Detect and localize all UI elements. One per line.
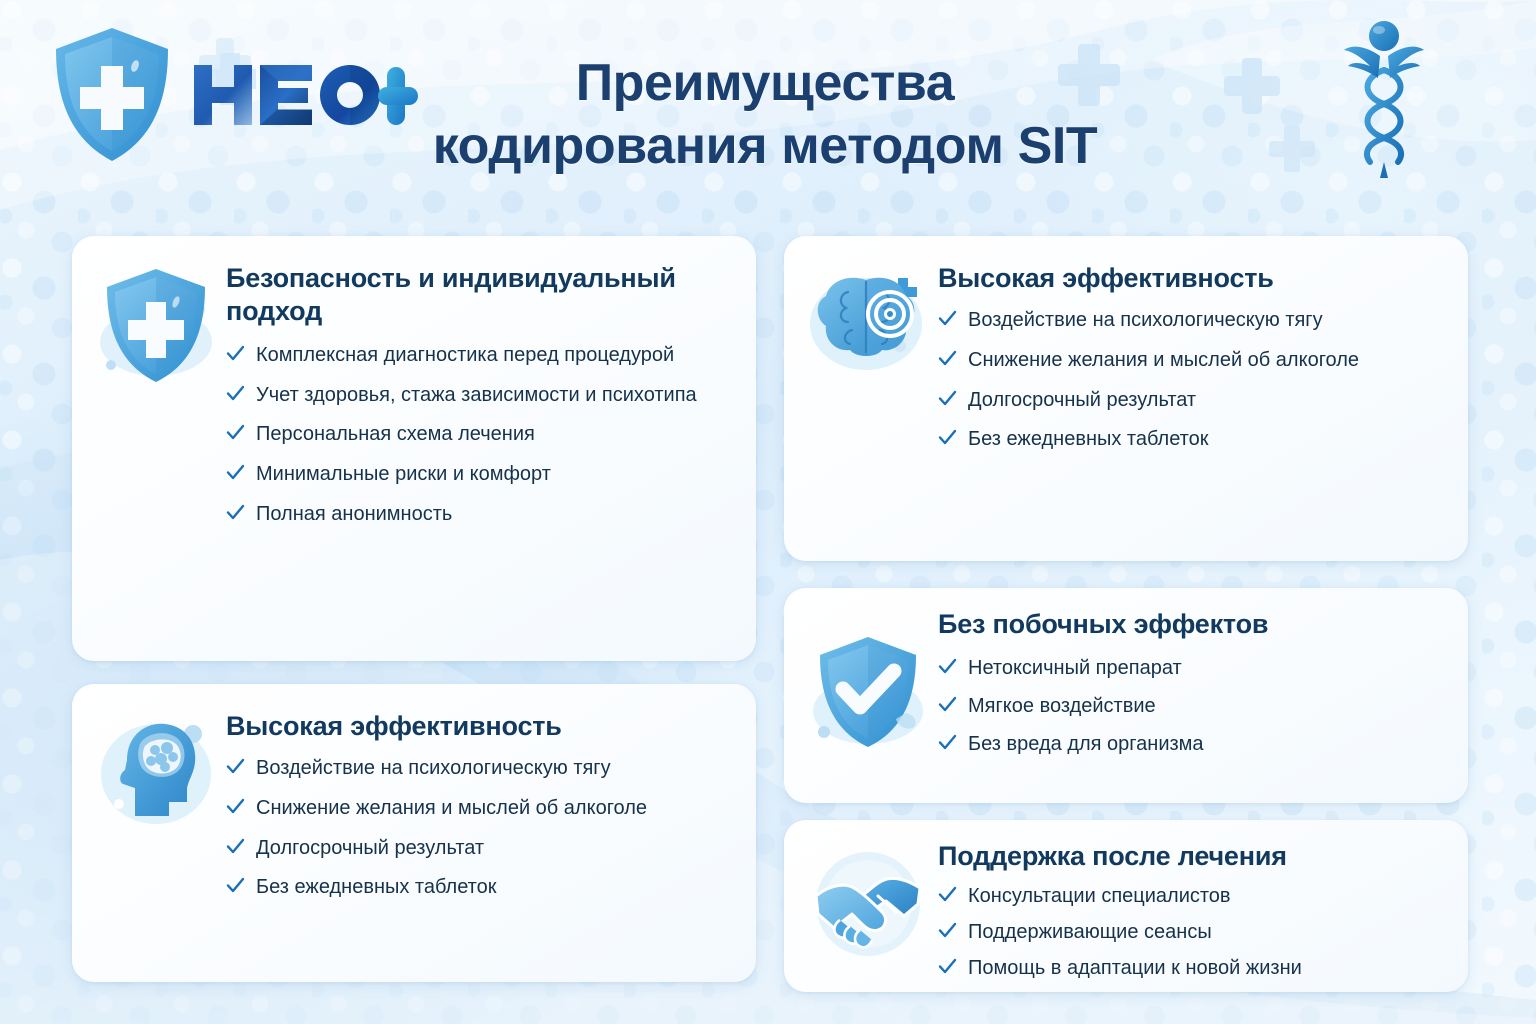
- check-icon: [938, 921, 957, 943]
- check-icon: [226, 463, 245, 485]
- head-brain-icon: [97, 712, 215, 830]
- list-item: Снижение желания и мыслей об алкоголе: [226, 795, 730, 822]
- list-item-label: Без ежедневных таблеток: [968, 426, 1442, 453]
- list-item-label: Полная анонимность: [256, 501, 730, 528]
- check-icon: [938, 885, 957, 907]
- bullet-list: Комплексная диагностика перед процедурой…: [226, 342, 730, 528]
- benefit-card-safety: Безопасность и индивидуальный подход Ком…: [72, 236, 756, 661]
- check-icon: [938, 309, 957, 331]
- list-item: Мягкое воздействие: [938, 693, 1442, 720]
- benefit-card-support: Поддержка после лечения Консультации спе…: [784, 820, 1468, 992]
- list-item: Воздействие на психологическую тягу: [938, 307, 1442, 334]
- check-icon: [226, 344, 245, 366]
- list-item-label: Мягкое воздействие: [968, 693, 1442, 720]
- list-item-label: Воздействие на психологическую тягу: [968, 307, 1442, 334]
- benefit-card-no-side-effects: Без побочных эффектов Нетоксичный препар…: [784, 588, 1468, 803]
- list-item-label: Поддерживающие сеансы: [968, 919, 1442, 946]
- card-icon-wrap: [92, 706, 220, 962]
- shield-check-icon: [810, 631, 926, 757]
- check-icon: [938, 957, 957, 979]
- list-item-label: Нетоксичный препарат: [968, 655, 1442, 682]
- check-icon: [938, 733, 957, 755]
- list-item-label: Минимальные риски и комфорт: [256, 461, 730, 488]
- card-title: Без побочных эффектов: [938, 608, 1442, 641]
- list-item-label: Комплексная диагностика перед процедурой: [256, 342, 730, 369]
- brain-target-icon: [806, 264, 930, 382]
- list-item-label: Учет здоровья, стажа зависимости и психо…: [256, 382, 730, 409]
- card-icon-wrap: [804, 836, 932, 972]
- card-icon-wrap: [804, 604, 932, 783]
- list-item-label: Долгосрочный результат: [968, 387, 1442, 414]
- list-item: Без ежедневных таблеток: [226, 874, 730, 901]
- benefit-card-efficiency-right: Высокая эффективность Воздействие на пси…: [784, 236, 1468, 561]
- benefits-card-grid: Безопасность и индивидуальный подход Ком…: [0, 0, 1536, 1024]
- check-icon: [226, 423, 245, 445]
- list-item-label: Долгосрочный результат: [256, 835, 730, 862]
- check-icon: [226, 757, 245, 779]
- infographic-poster: Преимущества кодирования методом SIT: [0, 0, 1536, 1024]
- list-item-label: Без вреда для организма: [968, 731, 1442, 758]
- list-item-label: Воздействие на психологическую тягу: [256, 755, 730, 782]
- list-item-label: Консультации специалистов: [968, 883, 1442, 910]
- list-item-label: Снижение желания и мыслей об алкоголе: [256, 795, 730, 822]
- card-title: Высокая эффективность: [226, 710, 730, 743]
- check-icon: [226, 876, 245, 898]
- list-item: Поддерживающие сеансы: [938, 919, 1442, 946]
- list-item: Снижение желания и мыслей об алкоголе: [938, 347, 1442, 374]
- card-title: Поддержка после лечения: [938, 840, 1442, 873]
- check-icon: [938, 695, 957, 717]
- list-item: Учет здоровья, стажа зависимости и психо…: [226, 382, 730, 409]
- list-item: Долгосрочный результат: [938, 387, 1442, 414]
- list-item: Долгосрочный результат: [226, 835, 730, 862]
- bullet-list: Воздействие на психологическую тягу Сниж…: [938, 307, 1442, 453]
- list-item: Комплексная диагностика перед процедурой: [226, 342, 730, 369]
- list-item: Помощь в адаптации к новой жизни: [938, 955, 1442, 982]
- check-icon: [226, 797, 245, 819]
- list-item: Воздействие на психологическую тягу: [226, 755, 730, 782]
- card-title: Безопасность и индивидуальный подход: [226, 262, 730, 328]
- check-icon: [226, 837, 245, 859]
- check-icon: [938, 349, 957, 371]
- card-title: Высокая эффективность: [938, 262, 1442, 295]
- check-icon: [938, 428, 957, 450]
- check-icon: [226, 503, 245, 525]
- list-item: Персональная схема лечения: [226, 421, 730, 448]
- check-icon: [938, 389, 957, 411]
- bullet-list: Нетоксичный препарат Мягкое воздействие …: [938, 655, 1442, 757]
- handshake-icon: [808, 844, 928, 964]
- list-item-label: Персональная схема лечения: [256, 421, 730, 448]
- list-item: Консультации специалистов: [938, 883, 1442, 910]
- list-item: Полная анонимность: [226, 501, 730, 528]
- list-item: Минимальные риски и комфорт: [226, 461, 730, 488]
- list-item-label: Снижение желания и мыслей об алкоголе: [968, 347, 1442, 374]
- check-icon: [938, 657, 957, 679]
- list-item: Без ежедневных таблеток: [938, 426, 1442, 453]
- bullet-list: Консультации специалистов Поддерживающие…: [938, 883, 1442, 981]
- list-item-label: Помощь в адаптации к новой жизни: [968, 955, 1442, 982]
- list-item: Нетоксичный препарат: [938, 655, 1442, 682]
- card-icon-wrap: [92, 258, 220, 641]
- benefit-card-efficiency-left: Высокая эффективность Воздействие на пси…: [72, 684, 756, 982]
- list-item-label: Без ежедневных таблеток: [256, 874, 730, 901]
- card-icon-wrap: [804, 258, 932, 541]
- bullet-list: Воздействие на психологическую тягу Сниж…: [226, 755, 730, 901]
- check-icon: [226, 384, 245, 406]
- shield-cross-icon: [97, 264, 215, 386]
- list-item: Без вреда для организма: [938, 731, 1442, 758]
